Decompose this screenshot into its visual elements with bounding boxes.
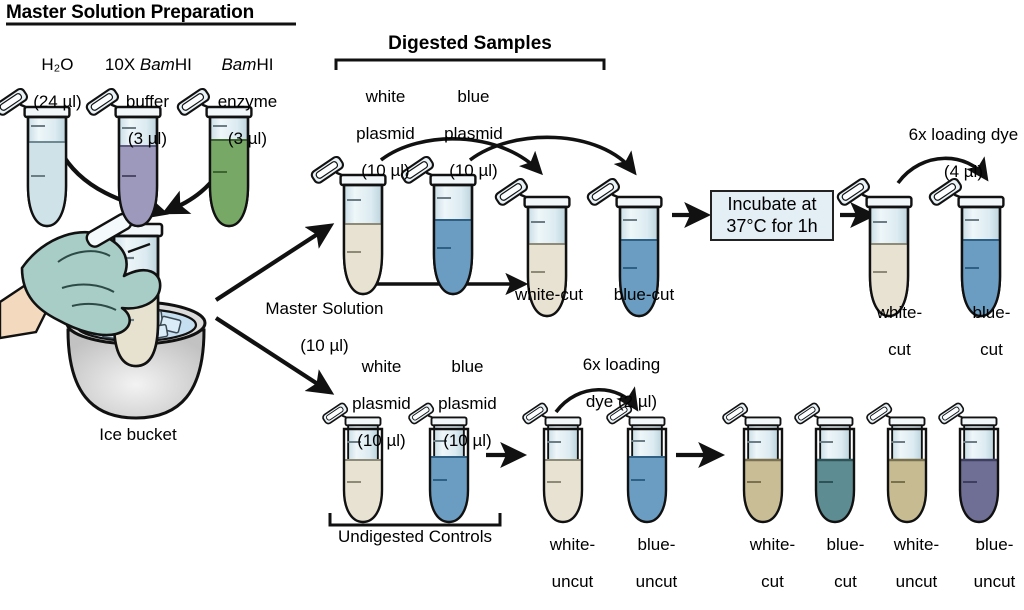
white-uncut-line2: uncut [552, 572, 594, 591]
final-label-white-uncut: white- uncut [864, 518, 950, 610]
undigested-source-label-blue: blue plasmid (10 µl) [412, 340, 504, 469]
undigested-source-label-white: white plasmid (10 µl) [326, 340, 418, 469]
digested-source-white-line2: plasmid [356, 124, 415, 143]
undigested-source-blue-line1: blue [451, 357, 483, 376]
figure-canvas: Master Solution Preparation H₂O (24 µl) … [0, 0, 1024, 559]
reagent-volume-buffer: (3 µl) [128, 129, 167, 148]
ice-bucket-label: Ice bucket [76, 426, 200, 444]
reagent-volume-enzyme: (3 µl) [228, 129, 267, 148]
product-label-white-uncut: white- uncut [522, 518, 604, 610]
final-blue-uncut-line1: blue- [976, 535, 1014, 554]
loading-dye-top-line1: 6x loading dye [909, 125, 1019, 144]
final-label-blue-cut: blue- cut [800, 518, 872, 610]
undigested-source-blue-volume: (10 µl) [443, 431, 492, 450]
reagent-label-enzyme: BamHI enzyme (3 µl) [192, 38, 284, 167]
dyed-blue-cut-line1: blue- [973, 303, 1011, 322]
final-white-cut-line1: white- [750, 535, 795, 554]
reagent-name-h2o: H₂O [41, 55, 73, 74]
master-solution-label-line1: Master Solution [265, 299, 383, 318]
reagent-name-buffer-line2: buffer [126, 92, 169, 111]
blue-uncut-line2: uncut [636, 572, 678, 591]
digested-source-blue-volume: (10 µl) [449, 161, 498, 180]
incubate-line2: 37°C for 1h [726, 216, 817, 236]
digested-source-blue-line2: plasmid [444, 124, 503, 143]
white-uncut-line1: white- [550, 535, 595, 554]
dyed-white-cut-line1: white- [877, 303, 922, 322]
incubate-step-box: Incubate at 37°C for 1h [710, 190, 834, 241]
reagent-name-enzyme-line1: BamHI [221, 55, 273, 74]
loading-dye-label-bottom: 6x loading dye (2 µl) [546, 338, 678, 430]
final-blue-uncut-line2: uncut [974, 572, 1016, 591]
blue-uncut-line1: blue- [638, 535, 676, 554]
dyed-blue-cut-line2: cut [980, 340, 1003, 359]
undigested-source-white-line2: plasmid [352, 394, 411, 413]
loading-dye-bottom-line2: dye (2 µl) [586, 392, 657, 411]
digested-source-label-white: white plasmid (10 µl) [330, 70, 422, 199]
section-title-master-prep: Master Solution Preparation [6, 2, 254, 24]
product-label-blue-cut: blue-cut [596, 286, 692, 304]
bracket-title-undigested-controls: Undigested Controls [322, 528, 508, 546]
final-blue-cut-line1: blue- [827, 535, 865, 554]
undigested-source-blue-line2: plasmid [438, 394, 497, 413]
final-blue-cut-line2: cut [834, 572, 857, 591]
loading-dye-label-top: 6x loading dye (4 µl) [884, 108, 1024, 200]
final-white-uncut-line1: white- [894, 535, 939, 554]
reagent-label-buffer: 10X BamHI buffer (3 µl) [86, 38, 190, 167]
undigested-source-white-volume: (10 µl) [357, 431, 406, 450]
reagent-volume-h2o: (24 µl) [33, 92, 82, 111]
loading-dye-top-volume: (4 µl) [944, 162, 983, 181]
dyed-product-label-white-cut: white- cut [852, 286, 928, 378]
product-label-white-cut: white-cut [496, 286, 602, 304]
dyed-white-cut-line2: cut [888, 340, 911, 359]
incubate-line1: Incubate at [727, 194, 816, 214]
final-label-white-cut: white- cut [722, 518, 804, 610]
product-label-blue-uncut: blue- uncut [608, 518, 686, 610]
undigested-source-white-line1: white [362, 357, 402, 376]
dyed-product-label-blue-cut: blue- cut [948, 286, 1016, 378]
digested-source-white-line1: white [366, 87, 406, 106]
bracket-title-digested-samples: Digested Samples [370, 34, 570, 55]
digested-source-blue-line1: blue [457, 87, 489, 106]
loading-dye-bottom-line1: 6x loading [583, 355, 661, 374]
digested-source-label-blue: blue plasmid (10 µl) [418, 70, 510, 199]
final-white-cut-line2: cut [761, 572, 784, 591]
reagent-name-enzyme-line2: enzyme [218, 92, 278, 111]
reagent-name-buffer-line1: 10X BamHI [105, 55, 192, 74]
final-label-blue-uncut: blue- uncut [946, 518, 1024, 610]
digested-source-white-volume: (10 µl) [361, 161, 410, 180]
reagent-label-h2o: H₂O (24 µl) [6, 38, 90, 130]
final-white-uncut-line2: uncut [896, 572, 938, 591]
